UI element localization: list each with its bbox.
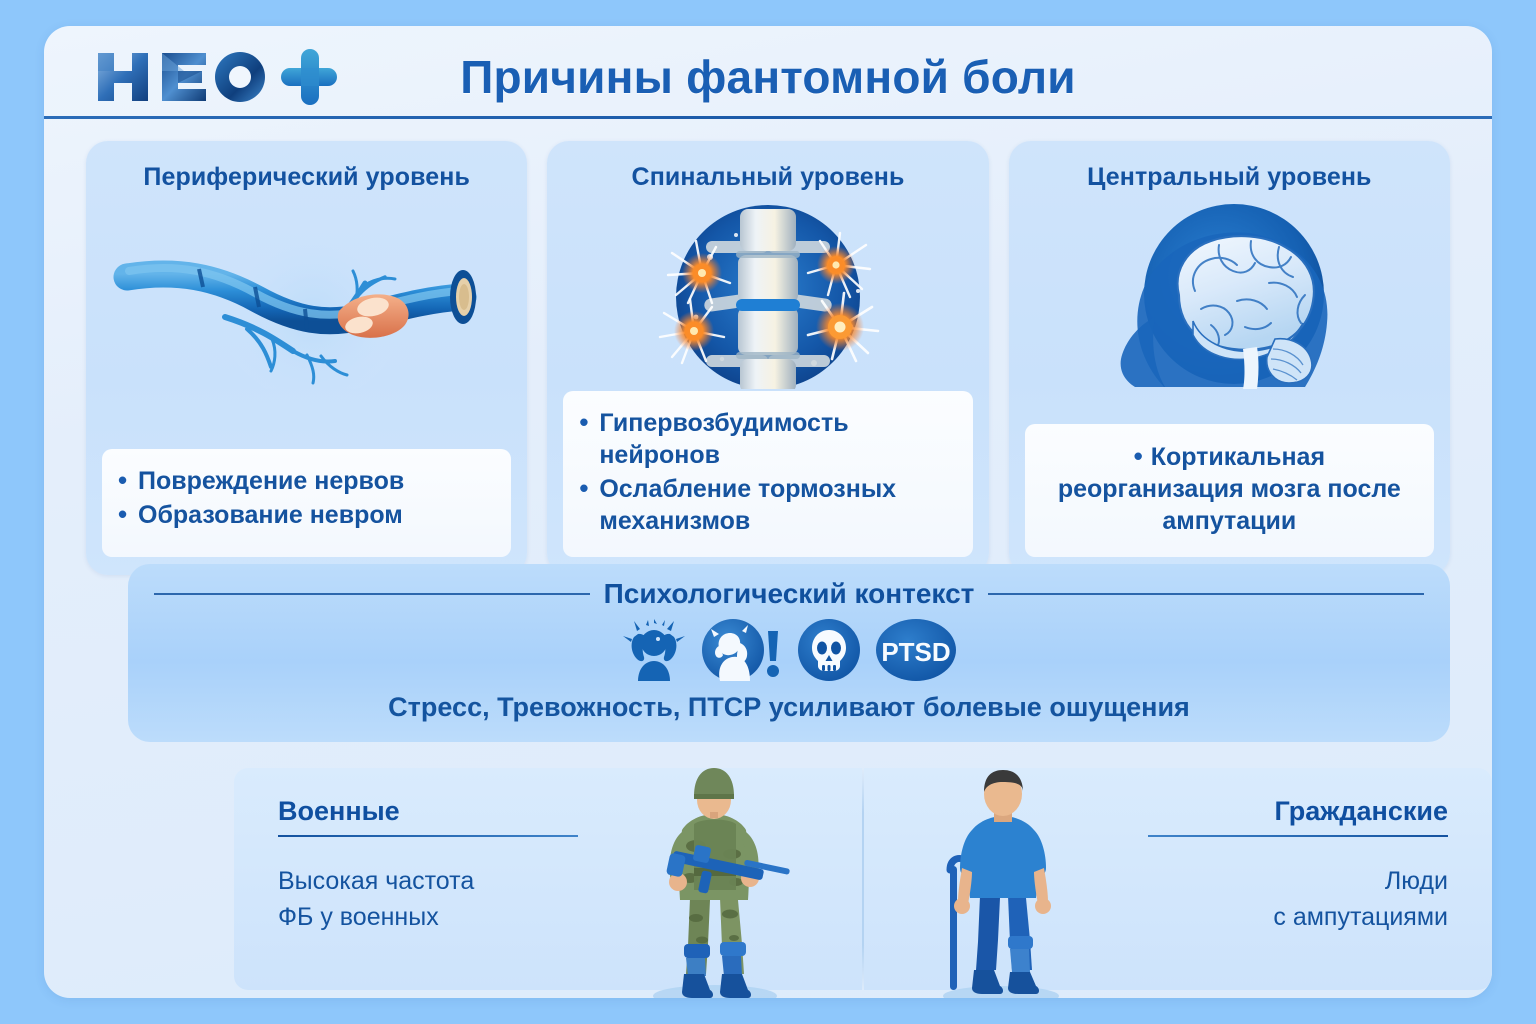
group-military[interactable]: Военные Высокая частота ФБ у военных	[234, 768, 862, 990]
group-rule-civilian	[1148, 835, 1448, 837]
group-desc-line: ФБ у военных	[278, 899, 578, 935]
card-body-peripheral: Повреждение нервов Образование невром	[102, 449, 511, 557]
header: Причины фантомной боли	[44, 26, 1492, 118]
bullet-list-peripheral: Повреждение нервов Образование невром	[116, 465, 497, 531]
psychological-caption: Стресс, Тревожность, ПТСР усиливают боле…	[128, 692, 1450, 723]
bullet-list-central: Кортикальная реорганизация мозга после а…	[1039, 440, 1420, 537]
group-military-text: Военные Высокая частота ФБ у военных	[278, 796, 578, 936]
card-title-central: Центральный уровень	[1087, 163, 1371, 192]
list-item: Ослабление тормозных механизмов	[577, 473, 958, 537]
psychological-header: Психологический контекст	[128, 578, 1450, 610]
group-desc-military: Высокая частота ФБ у военных	[278, 863, 578, 936]
infographic-poster: Причины фантомной боли Периферический ур…	[44, 26, 1492, 998]
spinal-cord-neurons-icon	[563, 196, 972, 391]
page-title: Причины фантомной боли	[44, 50, 1492, 104]
card-title-peripheral: Периферический уровень	[143, 163, 470, 192]
bullet-list-spinal: Гипервозбудимость нейронов Ослабление то…	[577, 407, 958, 537]
list-item: Образование невром	[116, 499, 497, 531]
header-divider	[44, 116, 1492, 119]
psychological-title: Психологический контекст	[604, 578, 975, 610]
card-peripheral[interactable]: Периферический уровень	[86, 141, 527, 575]
ptsd-badge-icon: PTSD	[874, 619, 958, 681]
group-title-military: Военные	[278, 796, 578, 827]
group-civilian[interactable]: Гражданские Люди с ампутациями	[864, 768, 1492, 990]
group-rule-military	[278, 835, 578, 837]
card-body-spinal: Гипервозбудимость нейронов Ослабление то…	[563, 391, 972, 557]
brain-profile-icon	[1025, 196, 1434, 391]
list-item: Повреждение нервов	[116, 465, 497, 497]
card-central[interactable]: Центральный уровень	[1009, 141, 1450, 575]
group-desc-line: Люди	[1148, 863, 1448, 899]
list-item: Кортикальная реорганизация мозга после а…	[1039, 440, 1420, 537]
group-desc-line: с ампутациями	[1148, 899, 1448, 935]
group-title-civilian: Гражданские	[1148, 796, 1448, 827]
skull-icon	[798, 619, 860, 681]
ptsd-label: PTSD	[881, 637, 950, 667]
card-body-central: Кортикальная реорганизация мозга после а…	[1025, 424, 1434, 557]
card-spinal[interactable]: Спинальный уровень	[547, 141, 988, 575]
card-title-spinal: Спинальный уровень	[632, 163, 905, 192]
stress-head-icon	[620, 619, 688, 681]
group-civilian-text: Гражданские Люди с ампутациями	[1148, 796, 1448, 936]
level-cards: Периферический уровень	[86, 141, 1450, 575]
group-desc-line: Высокая частота	[278, 863, 578, 899]
anxiety-exclamation-icon	[702, 619, 784, 681]
list-item: Гипервозбудимость нейронов	[577, 407, 958, 471]
nerve-neuroma-icon	[102, 196, 511, 391]
population-groups: Военные Высокая частота ФБ у военных	[234, 768, 1492, 990]
group-desc-civilian: Люди с ампутациями	[1148, 863, 1448, 936]
divider-right	[988, 593, 1424, 595]
soldier-with-prosthetic-figure	[610, 768, 820, 998]
psychological-icons: PTSD	[128, 619, 1450, 681]
psychological-context-band: Психологический контекст	[128, 564, 1450, 742]
civilian-with-cane-figure	[906, 770, 1096, 998]
divider-left	[154, 593, 590, 595]
